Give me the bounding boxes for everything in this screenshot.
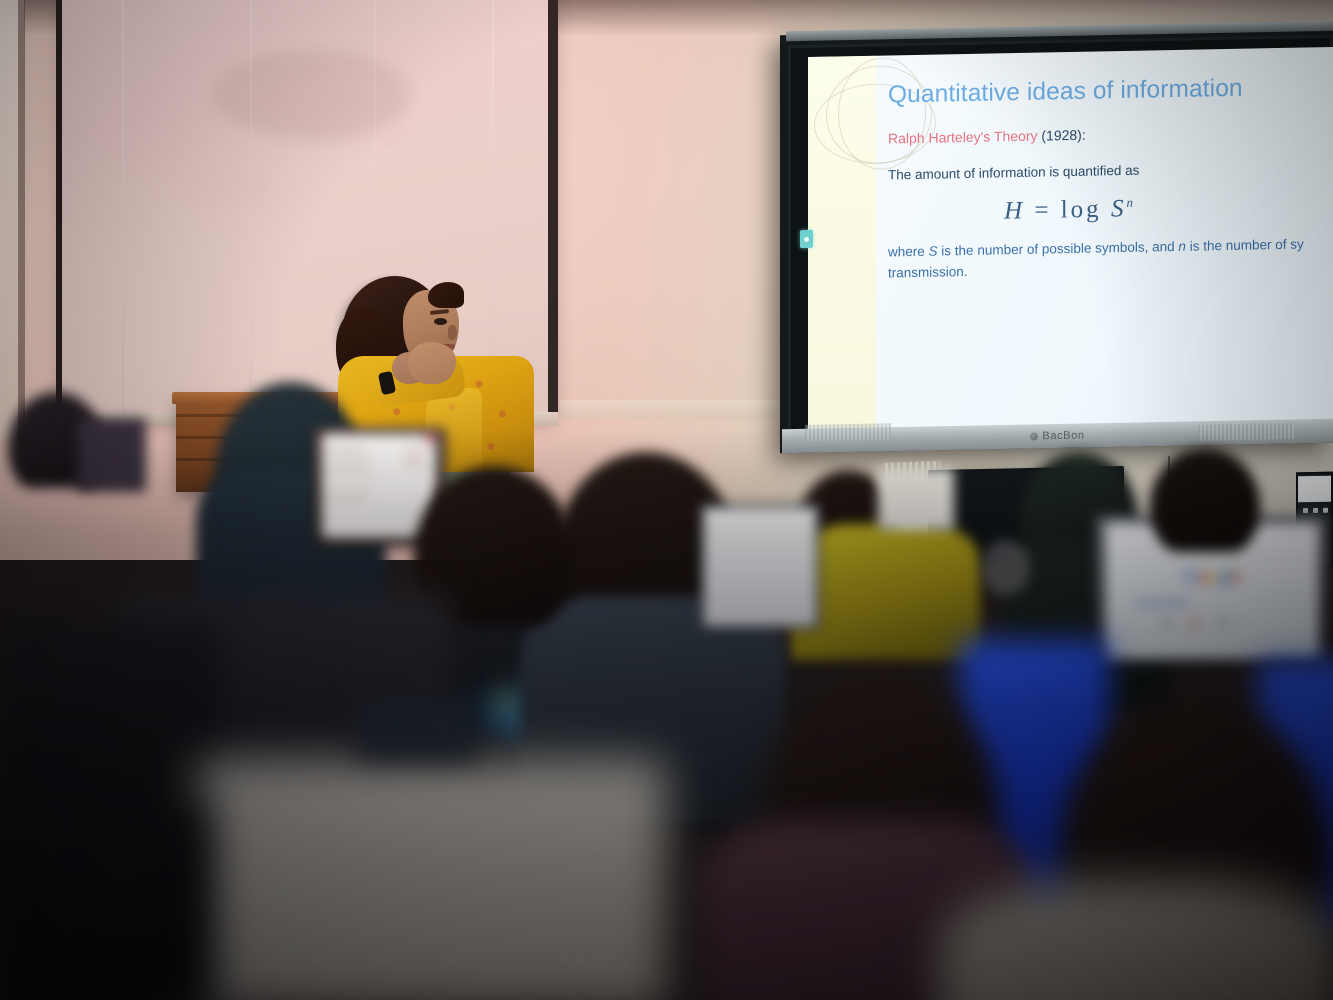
slide-where-clause: where S is the number of possible symbol… (888, 231, 1333, 285)
far-screen-app-icon[interactable] (1313, 508, 1318, 513)
where-part2: is the number of possible symbols, and (938, 239, 1179, 259)
brand-logo-icon (1030, 432, 1038, 440)
formula-base: S (1111, 195, 1127, 222)
lecturer-hair-fringe (428, 282, 464, 308)
where-symbol-s: S (929, 244, 938, 259)
foreground-body-cream-shirt (940, 880, 1333, 1000)
monitor-edge-blur (356, 700, 476, 760)
student-glasses-blur (982, 540, 1030, 596)
slide-subtitle-highlight: Ralph Harteley's Theory (888, 128, 1037, 147)
brand-text: BacBon (1042, 429, 1084, 442)
where-part1: where (888, 244, 929, 260)
slide-body: Quantitative ideas of information Ralph … (884, 47, 1333, 434)
where-part3: is the number of sy (1186, 237, 1304, 254)
monitor-glow-icon (496, 690, 520, 714)
slide-intro-line: The amount of information is quantified … (888, 159, 1329, 182)
slide-left-decorative-band (808, 56, 876, 435)
formula-log: log (1061, 196, 1102, 224)
far-screen-content-area (1298, 476, 1331, 503)
foreground-dark-mass-left (0, 800, 210, 1000)
slide-formula: H = log Sn (888, 191, 1329, 228)
formula-equals: = (1034, 197, 1051, 224)
formula-lhs: H (1004, 197, 1025, 224)
formula-exponent: n (1126, 195, 1133, 210)
monitor-back-behind-yellow (878, 468, 954, 530)
far-screen-app-icon[interactable] (1303, 508, 1308, 513)
monitor-back-far-left (78, 418, 146, 492)
panel-brand-label: BacBon (1030, 429, 1084, 442)
projection-screen-right-edge (548, 0, 558, 420)
where-line2: transmission. (888, 264, 968, 281)
presentation-slide: Quantitative ideas of information Ralph … (808, 47, 1333, 435)
monitor-back-white-center (700, 504, 820, 630)
slide-subtitle-rest: (1928): (1037, 127, 1085, 144)
lecturer-eye (434, 318, 447, 325)
panel-speaker-grill-right (1198, 423, 1294, 441)
far-screen-app-icon[interactable] (1323, 508, 1328, 513)
monitor-back-white-foreground (196, 760, 666, 1000)
lecturer-nose (448, 325, 457, 340)
window-frame (18, 0, 25, 440)
slide-title: Quantitative ideas of information (888, 73, 1329, 109)
where-symbol-n: n (1178, 239, 1186, 254)
panel-side-indicator-icon[interactable] (800, 230, 813, 248)
lecturer-hand-upper (408, 342, 456, 384)
panel-speaker-grill-left (805, 423, 891, 441)
slide-subtitle: Ralph Harteley's Theory (1928): (888, 122, 1329, 146)
lecture-hall-scene: Quantitative ideas of information Ralph … (0, 0, 1333, 1000)
